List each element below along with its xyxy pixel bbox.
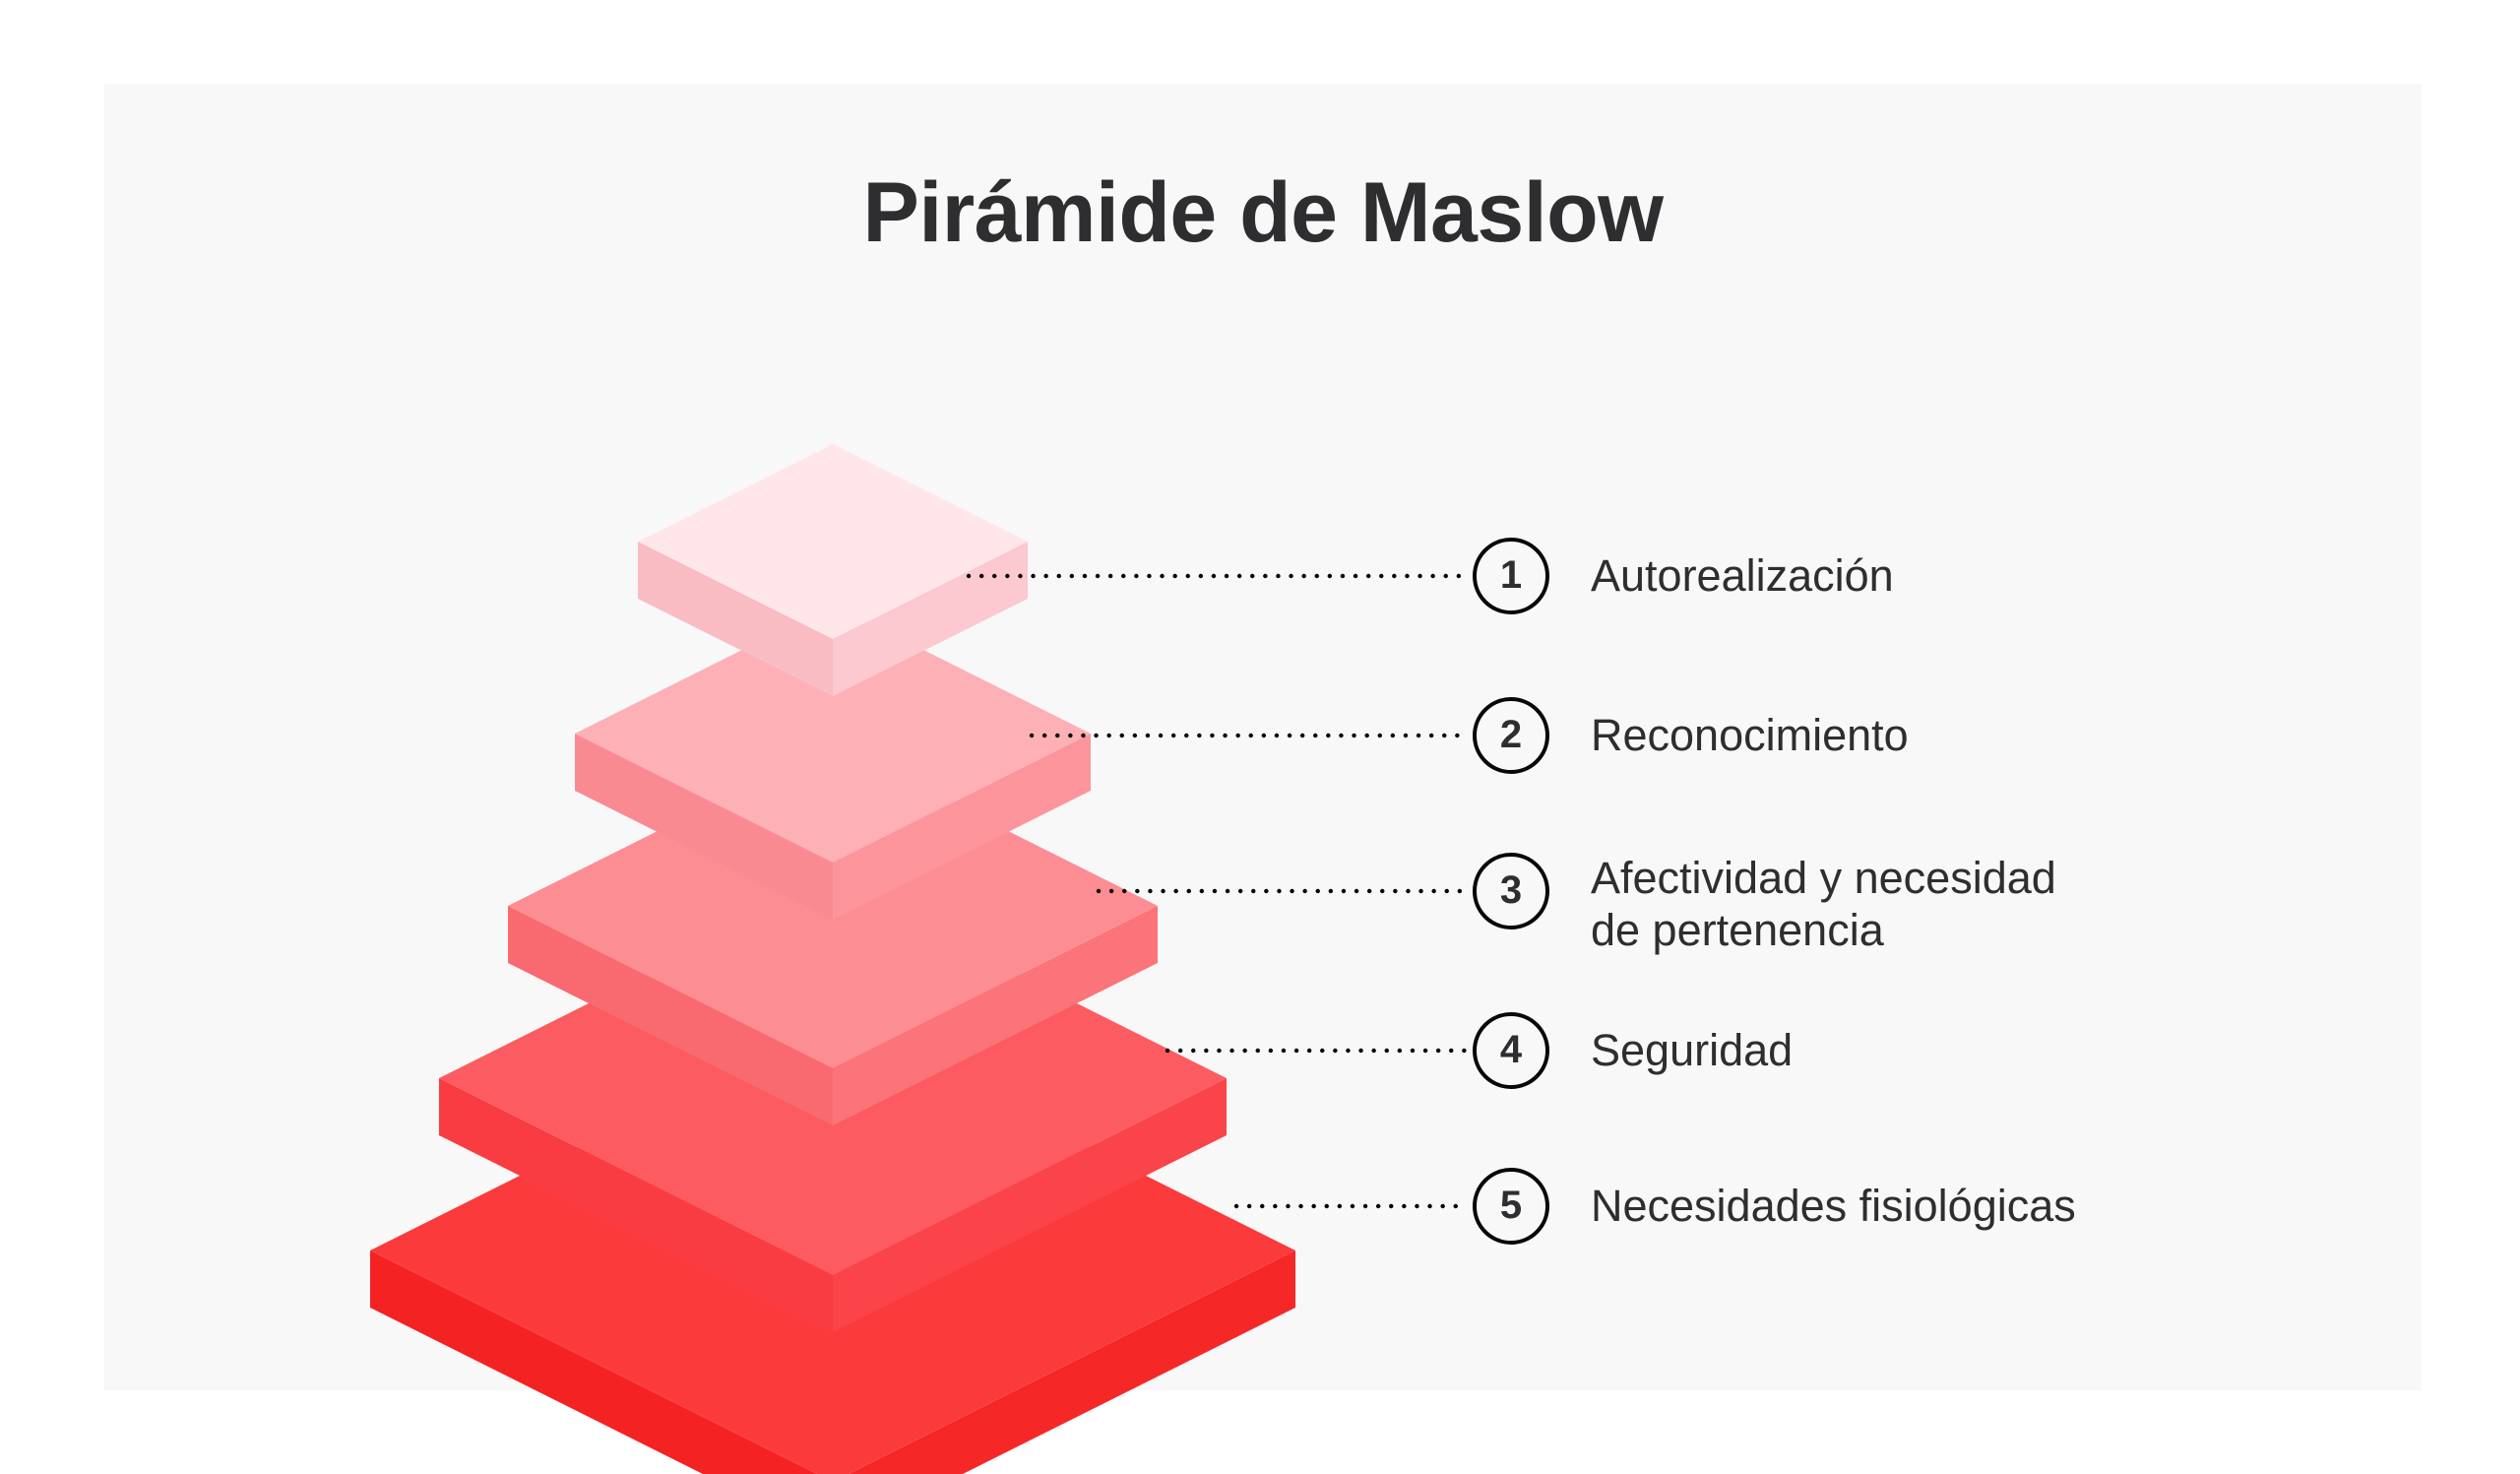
level-label: Afectividad y necesidad de pertenencia: [1591, 853, 2056, 956]
level-badge-4: 4: [1473, 1012, 1549, 1089]
legend-item-5[interactable]: 5Necesidades fisiológicas: [1473, 1168, 2076, 1245]
level-number: 3: [1500, 870, 1522, 910]
level-number: 2: [1500, 715, 1522, 754]
screenshot-canvas: Pirámide de Maslow 1Autorealización2Reco…: [0, 0, 2520, 1474]
level-label: Seguridad: [1591, 1012, 1793, 1077]
level-number: 4: [1500, 1030, 1522, 1069]
level-label: Reconocimiento: [1591, 697, 1909, 762]
level-number: 5: [1500, 1186, 1522, 1225]
legend-item-1[interactable]: 1Autorealización: [1473, 538, 1894, 614]
level-badge-3: 3: [1473, 853, 1549, 929]
level-label: Necesidades fisiológicas: [1591, 1168, 2076, 1233]
level-label: Autorealización: [1591, 538, 1894, 603]
level-badge-2: 2: [1473, 697, 1549, 774]
level-badge-5: 5: [1473, 1168, 1549, 1245]
legend-item-3[interactable]: 3Afectividad y necesidad de pertenencia: [1473, 853, 2056, 956]
level-badge-1: 1: [1473, 538, 1549, 614]
legend-item-4[interactable]: 4Seguridad: [1473, 1012, 1793, 1089]
level-number: 1: [1500, 555, 1522, 595]
legend-list: 1Autorealización2Reconocimiento3Afectivi…: [1473, 84, 2418, 1390]
infographic-card: Pirámide de Maslow 1Autorealización2Reco…: [104, 84, 2422, 1390]
legend-item-2[interactable]: 2Reconocimiento: [1473, 697, 1909, 774]
